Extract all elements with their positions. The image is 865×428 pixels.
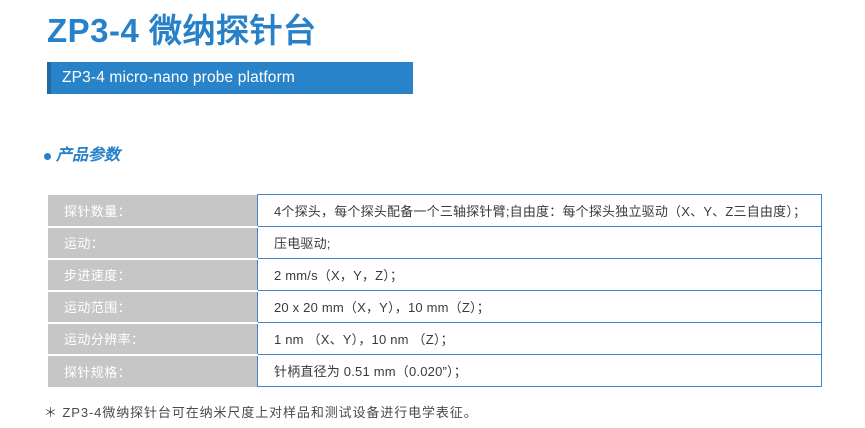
spec-key: 运动： bbox=[48, 227, 258, 259]
spec-value: 2 mm/s（X，Y，Z）； bbox=[258, 259, 822, 291]
page-title: ZP3-4 微纳探针台 bbox=[47, 9, 317, 53]
table-row: 运动范围： 20 x 20 mm（X，Y），10 mm（Z）； bbox=[48, 291, 822, 323]
spec-value: 针柄直径为 0.51 mm（0.020”）； bbox=[258, 355, 822, 387]
spec-value: 4个探头，每个探头配备一个三轴探针臂;自由度：每个探头独立驱动（X、Y、Z三自由… bbox=[258, 195, 822, 227]
table-row: 运动： 压电驱动; bbox=[48, 227, 822, 259]
table-row: 步进速度： 2 mm/s（X，Y，Z）； bbox=[48, 259, 822, 291]
spec-key: 运动分辨率： bbox=[48, 323, 258, 355]
spec-key: 探针规格： bbox=[48, 355, 258, 387]
spec-value: 1 nm （X、Y），10 nm （Z）； bbox=[258, 323, 822, 355]
specifications-table: 探针数量： 4个探头，每个探头配备一个三轴探针臂;自由度：每个探头独立驱动（X、… bbox=[48, 194, 822, 387]
spec-key: 步进速度： bbox=[48, 259, 258, 291]
section-heading-product-parameters: 产品参数 bbox=[44, 145, 120, 167]
spec-key: 运动范围： bbox=[48, 291, 258, 323]
spec-value: 20 x 20 mm（X，Y），10 mm（Z）； bbox=[258, 291, 822, 323]
table-row: 运动分辨率： 1 nm （X、Y），10 nm （Z）； bbox=[48, 323, 822, 355]
subtitle-text: ZP3-4 micro-nano probe platform bbox=[51, 62, 295, 94]
subtitle-banner: ZP3-4 micro-nano probe platform bbox=[47, 62, 413, 94]
table-row: 探针数量： 4个探头，每个探头配备一个三轴探针臂;自由度：每个探头独立驱动（X、… bbox=[48, 195, 822, 227]
footnote-text: ＊ ZP3-4微纳探针台可在纳米尺度上对样品和测试设备进行电学表征。 bbox=[44, 404, 478, 422]
spec-value: 压电驱动; bbox=[258, 227, 822, 259]
specifications-table-body: 探针数量： 4个探头，每个探头配备一个三轴探针臂;自由度：每个探头独立驱动（X、… bbox=[48, 195, 822, 387]
section-heading-label: 产品参数 bbox=[56, 145, 120, 167]
bullet-dot-icon bbox=[44, 153, 51, 160]
spec-key: 探针数量： bbox=[48, 195, 258, 227]
table-row: 探针规格： 针柄直径为 0.51 mm（0.020”）； bbox=[48, 355, 822, 387]
